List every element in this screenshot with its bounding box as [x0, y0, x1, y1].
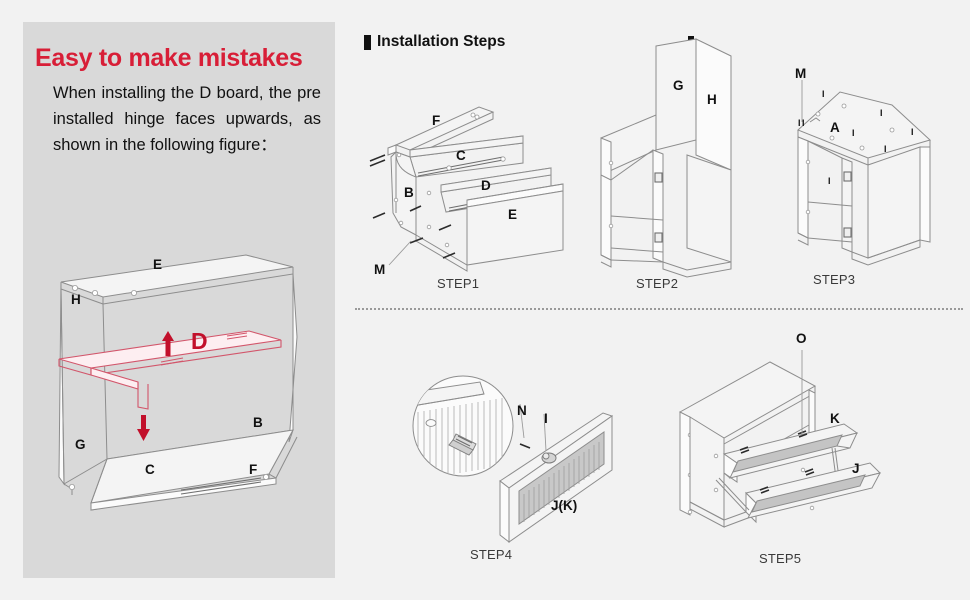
step1-label-F: F	[432, 113, 440, 128]
svg-text:D: D	[191, 328, 208, 354]
step4-diagram	[440, 378, 660, 543]
step2-label-H: H	[707, 92, 717, 107]
step4-label-I: I	[544, 411, 548, 426]
step5-label-O: O	[796, 331, 807, 346]
step2-label-G: G	[673, 78, 684, 93]
step2-caption: STEP2	[636, 276, 678, 291]
step1-label-C: C	[456, 148, 466, 163]
step5-label-J: J	[852, 461, 860, 476]
step1-diagram	[363, 95, 568, 280]
wrong-install-diagram: D	[31, 237, 331, 567]
left-label-C: C	[145, 462, 155, 477]
step4-label-JK: J(K)	[551, 498, 577, 513]
step1-label-M: M	[374, 262, 385, 277]
step4-label-N: N	[517, 403, 527, 418]
step1-caption: STEP1	[437, 276, 479, 291]
step3-diagram: I I I I I I I I	[780, 62, 960, 280]
step5-caption: STEP5	[759, 551, 801, 566]
step2-diagram	[597, 30, 777, 282]
step3-caption: STEP3	[813, 272, 855, 287]
svg-text:I: I	[880, 108, 883, 118]
step4-caption: STEP4	[470, 547, 512, 562]
svg-text:I: I	[822, 89, 825, 99]
installation-steps-header: Installation Steps	[364, 33, 505, 51]
page-title: Easy to make mistakes	[35, 44, 302, 73]
step5-label-K: K	[830, 411, 840, 426]
left-label-B: B	[253, 415, 263, 430]
svg-text:I: I	[852, 128, 855, 138]
step1-label-E: E	[508, 207, 517, 222]
left-label-H: H	[71, 292, 81, 307]
step5-diagram	[672, 330, 962, 545]
installation-steps-label: Installation Steps	[377, 33, 505, 51]
svg-text:I: I	[828, 176, 831, 186]
svg-text:I: I	[798, 118, 801, 128]
step1-label-B: B	[404, 185, 414, 200]
svg-text:I: I	[802, 118, 805, 128]
left-label-G: G	[75, 437, 86, 452]
easy-mistakes-panel: Easy to make mistakes When installing th…	[23, 22, 335, 578]
svg-text:I: I	[911, 127, 914, 137]
mistake-description: When installing the D board, the pre ins…	[53, 80, 321, 158]
left-label-F: F	[249, 462, 257, 477]
left-label-E: E	[153, 257, 162, 272]
step1-label-D: D	[481, 178, 491, 193]
square-bullet-icon	[364, 35, 371, 50]
svg-text:I: I	[884, 144, 887, 154]
step3-label-A: A	[830, 120, 840, 135]
section-divider	[355, 308, 963, 310]
step3-label-M: M	[795, 66, 806, 81]
